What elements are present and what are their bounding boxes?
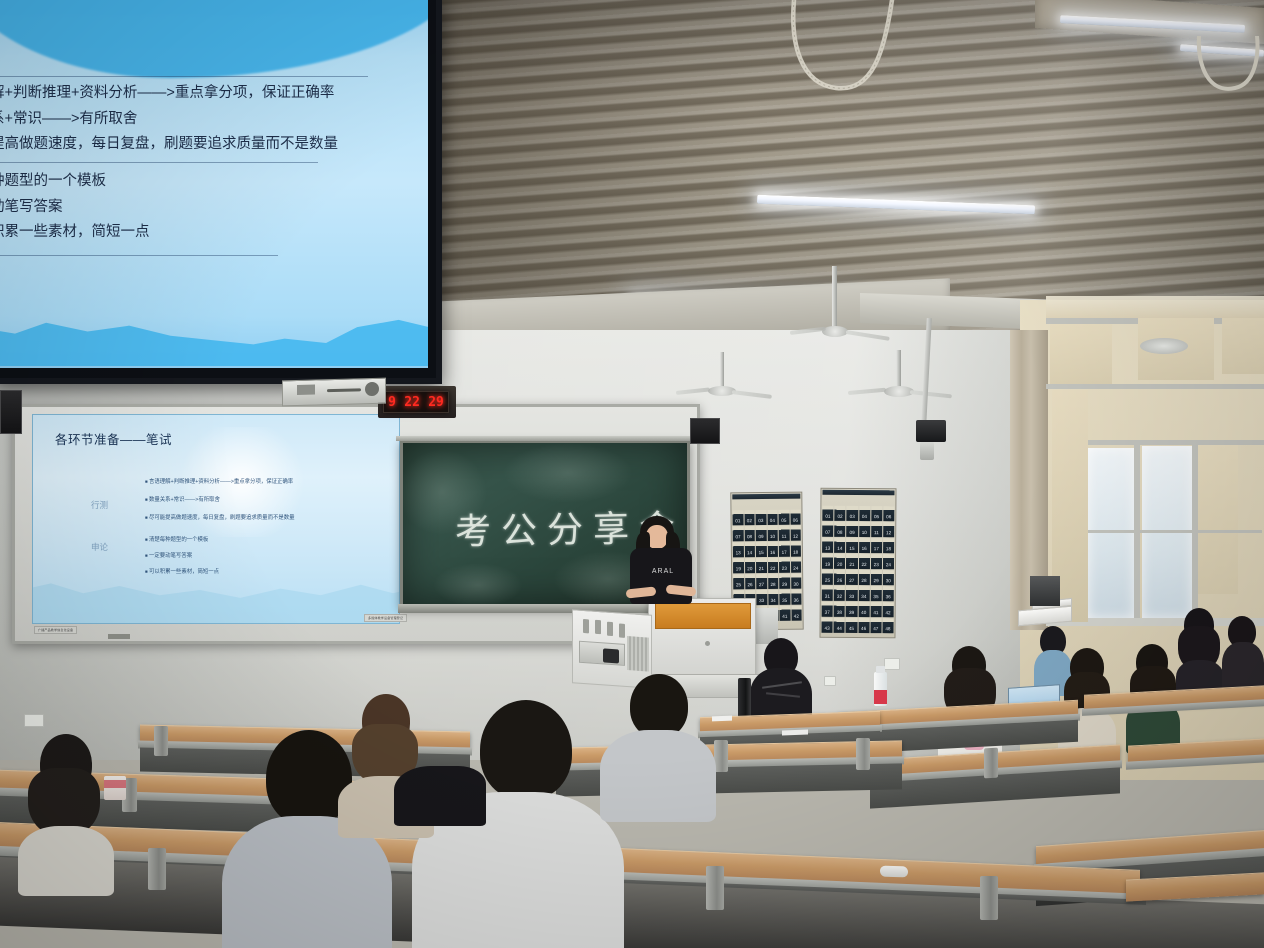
- presenter: ARAL: [626, 516, 696, 608]
- pocket-slot[interactable]: 07: [822, 522, 833, 537]
- desk-leg-right-1: [984, 748, 998, 779]
- pocket-slot[interactable]: 30: [883, 570, 894, 585]
- wall-speaker-center: [690, 418, 720, 444]
- pocket-slot[interactable]: 40: [858, 602, 869, 617]
- desk-leg-left-1: [154, 726, 168, 756]
- pocket-slot[interactable]: 39: [846, 602, 857, 617]
- slide-section-label-1: 行测: [91, 499, 108, 511]
- window-pane-tan-3: [1222, 314, 1264, 374]
- wall-switch-plate-3[interactable]: [24, 714, 44, 727]
- pocket-slot[interactable]: 33: [756, 590, 767, 605]
- pocket-slot[interactable]: 04: [859, 506, 870, 521]
- desk-paper-sheet-1[interactable]: [782, 730, 808, 736]
- pocket-slot[interactable]: 16: [859, 538, 870, 553]
- board-clip: [108, 634, 130, 639]
- pocket-slot[interactable]: 27: [756, 574, 767, 589]
- pocket-slot[interactable]: 02: [834, 506, 845, 521]
- desk-leg-fg-4: [980, 876, 998, 920]
- pocket-slot[interactable]: 47: [870, 618, 881, 633]
- pocket-slot[interactable]: 28: [858, 570, 869, 585]
- pocket-slot[interactable]: 23: [871, 554, 882, 569]
- window-transom: [1046, 296, 1264, 318]
- blackboard-top-frame: [396, 436, 694, 441]
- pocket-slot[interactable]: 06: [790, 510, 801, 525]
- student-mid-dark-shirt: [394, 766, 486, 826]
- slide-decor-top-wave: [0, 0, 428, 78]
- pocket-slot[interactable]: 24: [883, 554, 894, 569]
- window-frame-mid: [1046, 384, 1264, 389]
- window-mullion-1: [1134, 444, 1140, 624]
- pocket-slot[interactable]: 13: [822, 538, 833, 553]
- clock-minutes: 22: [404, 395, 420, 410]
- slide-line-4: 种题型的一个模板: [0, 173, 428, 190]
- pocket-slot[interactable]: 35: [870, 586, 881, 601]
- student-back-window: [1176, 608, 1224, 678]
- pocket-slot[interactable]: 05: [778, 510, 789, 525]
- wall-speaker-left: [0, 390, 22, 434]
- pocket-slot[interactable]: 18: [883, 538, 894, 553]
- pocket-slot[interactable]: 36: [883, 586, 894, 601]
- pocket-slot[interactable]: 48: [882, 618, 893, 633]
- slide-line-5: 动笔写答案: [0, 199, 428, 216]
- student-front-left-ponytail: [18, 734, 114, 864]
- window-pane-bright-1[interactable]: [1088, 448, 1134, 618]
- board-tag-right: 多媒体教学设备管理登记: [364, 614, 407, 622]
- pocket-slot[interactable]: 21: [846, 554, 857, 569]
- ceiling-lamp-dome: [1140, 338, 1188, 354]
- pocket-slot[interactable]: 12: [790, 526, 801, 541]
- pocket-slot[interactable]: 10: [859, 522, 870, 537]
- pocket-chart-header: [732, 494, 800, 500]
- pocket-slot[interactable]: 17: [871, 538, 882, 553]
- pocket-chart-header: [822, 490, 894, 496]
- pocket-slot[interactable]: 12: [883, 522, 894, 537]
- pocket-slot[interactable]: 03: [755, 510, 766, 525]
- pocket-slot[interactable]: 01: [822, 506, 833, 521]
- pocket-slot[interactable]: 18: [790, 542, 801, 557]
- pocket-slot[interactable]: 27: [846, 570, 857, 585]
- pocket-slot[interactable]: 08: [834, 522, 845, 537]
- window-pane-tan-4: [1198, 444, 1238, 594]
- pocket-slot[interactable]: 04: [767, 510, 778, 525]
- presenter-shirt-graphic: ARAL: [650, 568, 676, 578]
- pocket-slot[interactable]: 19: [822, 554, 833, 569]
- window-pane-tan-1: [1050, 324, 1112, 384]
- pocket-slot[interactable]: 46: [858, 618, 869, 633]
- pocket-slot[interactable]: 32: [834, 586, 845, 601]
- desk-paper-sheet-2[interactable]: [712, 716, 732, 722]
- desk-leg-center-2: [856, 738, 870, 770]
- student-back-right-corner: [1222, 616, 1264, 688]
- slide-section-label-2: 申论: [91, 541, 108, 553]
- pocket-slot[interactable]: 11: [779, 526, 790, 541]
- pocket-slot[interactable]: 02: [744, 510, 755, 525]
- lower-bullet-6: 可以积累一些素材，简短一点: [145, 567, 219, 575]
- pocket-slot[interactable]: 31: [822, 586, 833, 601]
- upper-slide-text-block: 解+判断推理+资料分析——>重点拿分项，保证正确率 系+常识——>有所取舍 提高…: [0, 76, 428, 256]
- pocket-slot[interactable]: 26: [834, 570, 845, 585]
- pocket-slot[interactable]: 44: [834, 618, 845, 633]
- dark-object-on-sill: [1030, 576, 1060, 606]
- student-center-row-grey: [600, 674, 716, 804]
- pocket-slot[interactable]: 20: [744, 558, 755, 573]
- desk-leg-fg-1: [148, 848, 166, 890]
- ceiling-fan-hub-1: [822, 326, 848, 337]
- slide-line-6: 积累一些素材，简短一点: [0, 224, 428, 241]
- lower-bullet-1: 言语理解+判断推理+资料分析——>重点拿分项，保证正确率: [145, 477, 293, 485]
- pocket-slot[interactable]: 20: [834, 554, 845, 569]
- lower-bullet-4: 清楚每种题型的一个模板: [145, 535, 208, 543]
- pocket-slot[interactable]: 01: [732, 510, 743, 525]
- paper-cup-band: [104, 780, 126, 788]
- water-bottle-label: [874, 690, 887, 704]
- lower-bullet-2: 数量关系+常识——>有所取舍: [145, 495, 220, 503]
- pocket-slot[interactable]: 16: [767, 542, 778, 557]
- pocket-slot[interactable]: 23: [779, 558, 790, 573]
- thermos-bottle[interactable]: [738, 678, 751, 718]
- hanging-cable: [780, 0, 940, 120]
- pocket-slot[interactable]: 33: [846, 586, 857, 601]
- lower-slide-title: 各环节准备——笔试: [55, 429, 172, 448]
- window-rail-mid: [1086, 530, 1262, 533]
- pocket-slot[interactable]: 09: [756, 526, 767, 541]
- pocket-slot[interactable]: 29: [871, 570, 882, 585]
- slide-line-2: 系+常识——>有所取舍: [0, 111, 428, 128]
- pocket-slot[interactable]: 17: [779, 542, 790, 557]
- classroom-scene: 解+判断推理+资料分析——>重点拿分项，保证正确率 系+常识——>有所取舍 提高…: [0, 0, 1264, 948]
- pocket-slot[interactable]: 15: [756, 542, 767, 557]
- upper-display-screen[interactable]: 解+判断推理+资料分析——>重点拿分项，保证正确率 系+常识——>有所取舍 提高…: [0, 0, 442, 384]
- slide-decor-bottom-mountains: [0, 294, 428, 366]
- pocket-slot[interactable]: 06: [883, 506, 894, 521]
- pocket-slot[interactable]: 42: [791, 606, 802, 621]
- phone-pocket-chart-right: 0102030405060708091011121314151617181920…: [819, 488, 896, 639]
- pocket-slot[interactable]: 26: [745, 574, 756, 589]
- camera-mount: [920, 442, 934, 460]
- hanging-cable-2: [1195, 36, 1264, 126]
- led-digital-clock: 9 22 29: [383, 391, 449, 413]
- pocket-slot[interactable]: 41: [779, 606, 790, 621]
- pocket-slot[interactable]: 19: [733, 558, 744, 573]
- camera-body: [916, 420, 946, 442]
- projector-upper: [282, 378, 386, 407]
- ceiling-fan-pole-3: [720, 352, 724, 390]
- projection-screen-lower[interactable]: 各环节准备——笔试 行测 申论 言语理解+判断推理+资料分析——>重点拿分项，保…: [32, 414, 400, 624]
- pocket-slot[interactable]: 15: [846, 538, 857, 553]
- pocket-slot[interactable]: 34: [858, 586, 869, 601]
- pocket-slot[interactable]: 24: [790, 558, 801, 573]
- pocket-slot[interactable]: 29: [779, 574, 790, 589]
- pocket-slot[interactable]: 10: [767, 526, 778, 541]
- pocket-slot[interactable]: 03: [847, 506, 858, 521]
- water-bottle-cap: [876, 666, 885, 673]
- pocket-slot[interactable]: 43: [822, 618, 833, 633]
- pocket-slot[interactable]: 14: [744, 542, 755, 557]
- pocket-slot[interactable]: 22: [767, 558, 778, 573]
- pocket-slot[interactable]: 36: [791, 590, 802, 605]
- slide-line-1: 解+判断推理+资料分析——>重点拿分项，保证正确率: [0, 85, 428, 102]
- pocket-slot[interactable]: 37: [822, 602, 833, 617]
- pocket-slot[interactable]: 35: [779, 590, 790, 605]
- pocket-slot[interactable]: 21: [756, 558, 767, 573]
- pocket-slot[interactable]: 38: [834, 602, 845, 617]
- pocket-slot[interactable]: 11: [871, 522, 882, 537]
- lower-bullet-5: 一定要动笔写答案: [145, 551, 192, 559]
- window-frame-upper-rail: [1084, 440, 1264, 445]
- pocket-slot[interactable]: 30: [791, 574, 802, 589]
- desk-object-pen-case[interactable]: [880, 866, 908, 878]
- pocket-slot[interactable]: 28: [768, 574, 779, 589]
- pocket-slot[interactable]: 42: [882, 602, 893, 617]
- pocket-slot[interactable]: 09: [847, 522, 858, 537]
- board-tag-left: 广播产品教学信息化设备: [34, 626, 77, 634]
- slide-line-3: 提高做题速度，每日复盘，刷题要追求质量而不是数量: [0, 136, 428, 153]
- desk-leg-center-1: [714, 740, 728, 772]
- wall-switch-plate-2[interactable]: [824, 676, 836, 686]
- pocket-slot[interactable]: 34: [768, 590, 779, 605]
- pocket-slot[interactable]: 41: [870, 602, 881, 617]
- wall-switch-plate-1[interactable]: [884, 658, 900, 670]
- podium-body: [648, 598, 756, 676]
- clock-seconds: 29: [428, 395, 444, 410]
- pocket-slot[interactable]: 45: [846, 618, 857, 633]
- ceiling-fan-pole-1: [832, 266, 837, 332]
- pocket-slot[interactable]: 25: [733, 574, 744, 589]
- pocket-slot[interactable]: 22: [858, 554, 869, 569]
- upper-slide-content: 解+判断推理+资料分析——>重点拿分项，保证正确率 系+常识——>有所取舍 提高…: [0, 0, 428, 368]
- pocket-slot[interactable]: 14: [834, 538, 845, 553]
- pocket-slot[interactable]: 05: [871, 506, 882, 521]
- pocket-slot[interactable]: 25: [822, 570, 833, 585]
- pocket-slot[interactable]: 07: [733, 526, 744, 541]
- desk-leg-fg-3: [706, 866, 724, 910]
- pocket-slot[interactable]: 13: [733, 542, 744, 557]
- clock-hours: 9: [388, 395, 396, 410]
- lower-bullet-3: 尽可能提高做题速度，每日复盘，刷题要追求质量而不是数量: [145, 513, 295, 521]
- pocket-slot[interactable]: 08: [744, 526, 755, 541]
